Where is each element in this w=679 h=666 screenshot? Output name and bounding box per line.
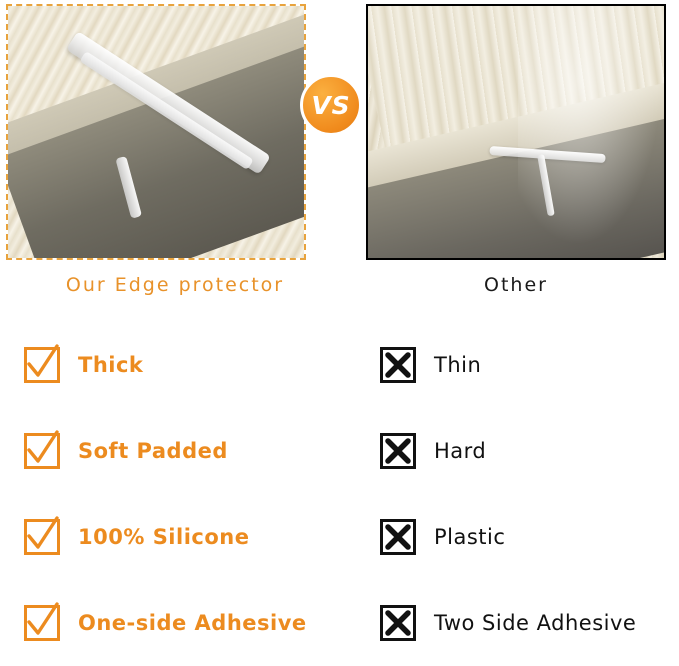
other-product-photo (366, 4, 666, 260)
check-mark-icon (24, 347, 60, 383)
feature-ours: 100% Silicone (0, 519, 350, 555)
feature-other-label: Two Side Adhesive (434, 611, 636, 635)
caption-our-product: Our Edge protector (0, 274, 350, 296)
feature-other: Two Side Adhesive (350, 605, 679, 641)
check-mark-icon (24, 433, 60, 469)
feature-other-label: Plastic (434, 525, 505, 549)
feature-ours: Soft Padded (0, 433, 350, 469)
photo-captions: Our Edge protector Other (0, 262, 679, 318)
feature-row: Soft Padded Hard (0, 408, 679, 494)
feature-ours: One-side Adhesive (0, 605, 350, 641)
comparison-images: VS (0, 0, 679, 262)
feature-ours-label: Soft Padded (78, 439, 228, 463)
feature-other: Thin (350, 347, 679, 383)
feature-row: Thick Thin (0, 322, 679, 408)
feature-other-label: Hard (434, 439, 486, 463)
caption-other-product: Other (356, 274, 676, 296)
feature-other-label: Thin (434, 353, 481, 377)
vs-badge: VS (300, 74, 362, 136)
feature-other: Plastic (350, 519, 679, 555)
cross-mark-icon (380, 605, 416, 641)
cross-mark-icon (380, 347, 416, 383)
feature-comparison-list: Thick Thin Soft Padded Hard (0, 318, 679, 666)
photo-highlight (518, 6, 666, 258)
cross-mark-icon (380, 433, 416, 469)
feature-ours-label: 100% Silicone (78, 525, 249, 549)
cross-mark-icon (380, 519, 416, 555)
feature-ours-label: Thick (78, 353, 143, 377)
feature-other: Hard (350, 433, 679, 469)
feature-row: 100% Silicone Plastic (0, 494, 679, 580)
check-mark-icon (24, 605, 60, 641)
our-product-photo (6, 4, 306, 260)
check-mark-icon (24, 519, 60, 555)
feature-row: One-side Adhesive Two Side Adhesive (0, 580, 679, 666)
feature-ours: Thick (0, 347, 350, 383)
feature-ours-label: One-side Adhesive (78, 611, 307, 635)
